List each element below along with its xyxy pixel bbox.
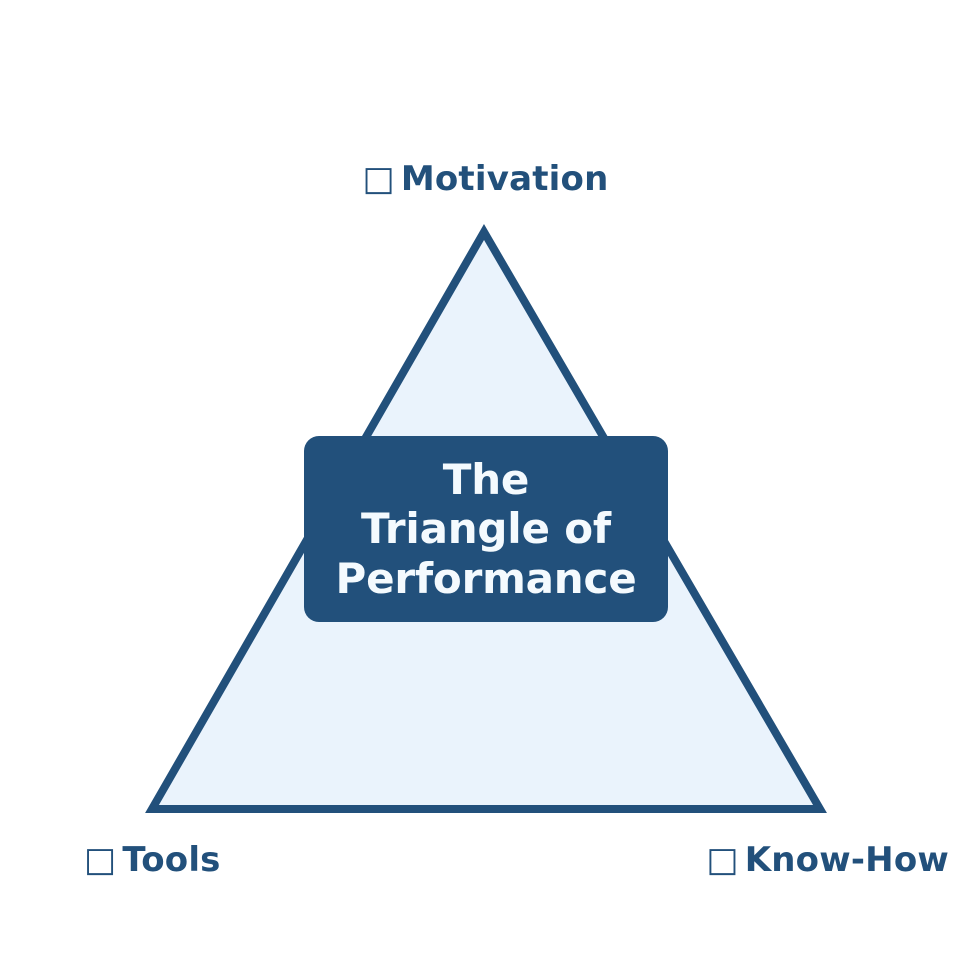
- vertex-label-tools-text: Tools: [122, 840, 220, 880]
- center-badge: The Triangle of Performance: [304, 436, 668, 622]
- vertex-label-motivation-text: Motivation: [401, 159, 609, 199]
- center-badge-line-1: The: [443, 455, 529, 505]
- missing-glyph-box-icon: □: [84, 843, 116, 877]
- vertex-label-tools: □Tools: [84, 843, 221, 877]
- vertex-label-know-how: □Know-How: [706, 843, 949, 877]
- missing-glyph-box-icon: □: [362, 162, 394, 196]
- center-badge-line-2: Triangle of: [361, 504, 611, 554]
- diagram-canvas: □Motivation □Tools □Know-How The Triangl…: [0, 0, 971, 964]
- center-badge-line-3: Performance: [335, 554, 636, 604]
- vertex-label-motivation: □Motivation: [0, 162, 971, 196]
- missing-glyph-box-icon: □: [706, 843, 738, 877]
- vertex-label-know-how-text: Know-How: [745, 840, 949, 880]
